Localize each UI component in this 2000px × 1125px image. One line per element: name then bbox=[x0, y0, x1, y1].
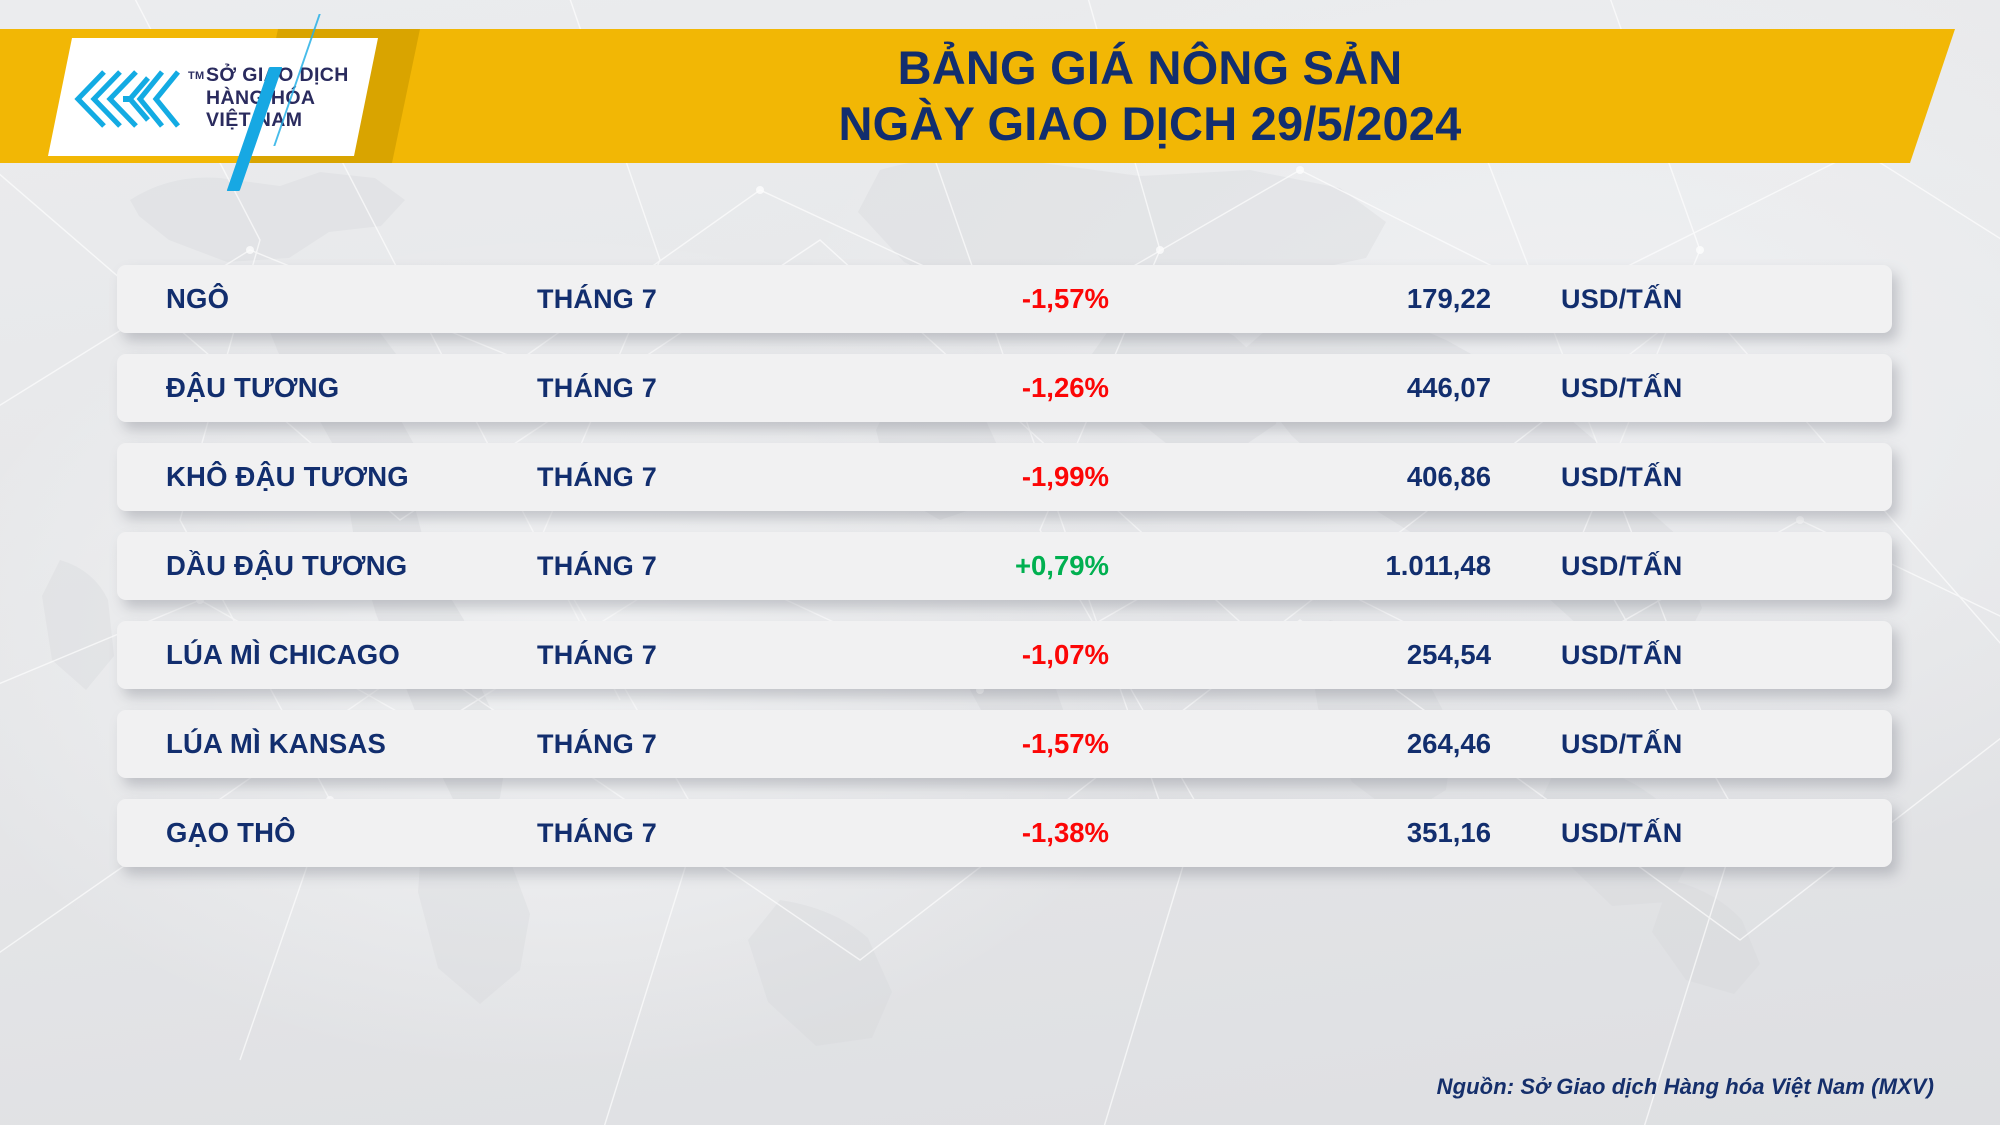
price-value: 264,46 bbox=[1197, 728, 1527, 760]
mxv-chevron-logo-icon bbox=[70, 68, 182, 130]
price-change: +0,79% bbox=[867, 550, 1197, 582]
commodity-name: NGÔ bbox=[117, 283, 537, 315]
table-row: LÚA MÌ KANSASTHÁNG 7-1,57%264,46USD/TẤN bbox=[117, 710, 1892, 778]
price-change: -1,57% bbox=[867, 283, 1197, 315]
price-change: -1,26% bbox=[867, 372, 1197, 404]
commodity-name: DẦU ĐẬU TƯƠNG bbox=[117, 550, 537, 582]
price-value: 446,07 bbox=[1197, 372, 1527, 404]
commodity-name: GẠO THÔ bbox=[117, 817, 537, 849]
price-unit: USD/TẤN bbox=[1527, 640, 1892, 671]
price-unit: USD/TẤN bbox=[1527, 462, 1892, 493]
page-header: TM SỞ GIAO DỊCH HÀNG HÓA VIỆT NAM BẢNG G… bbox=[0, 0, 2000, 175]
title-line-1: BẢNG GIÁ NÔNG SẢN bbox=[898, 41, 1403, 95]
price-value: 179,22 bbox=[1197, 283, 1527, 315]
price-change: -1,38% bbox=[867, 817, 1197, 849]
page-title: BẢNG GIÁ NÔNG SẢN NGÀY GIAO DỊCH 29/5/20… bbox=[480, 30, 1820, 162]
contract-month: THÁNG 7 bbox=[537, 462, 867, 493]
contract-month: THÁNG 7 bbox=[537, 373, 867, 404]
logo-plate: TM SỞ GIAO DỊCH HÀNG HÓA VIỆT NAM bbox=[48, 38, 378, 156]
price-change: -1,99% bbox=[867, 461, 1197, 493]
source-note: Nguồn: Sở Giao dịch Hàng hóa Việt Nam (M… bbox=[1437, 1074, 1934, 1100]
table-row: KHÔ ĐẬU TƯƠNGTHÁNG 7-1,99%406,86USD/TẤN bbox=[117, 443, 1892, 511]
price-unit: USD/TẤN bbox=[1527, 284, 1892, 315]
table-row: DẦU ĐẬU TƯƠNGTHÁNG 7+0,79%1.011,48USD/TẤ… bbox=[117, 532, 1892, 600]
price-unit: USD/TẤN bbox=[1527, 373, 1892, 404]
commodity-name: ĐẬU TƯƠNG bbox=[117, 372, 537, 404]
table-row: LÚA MÌ CHICAGOTHÁNG 7-1,07%254,54USD/TẤN bbox=[117, 621, 1892, 689]
contract-month: THÁNG 7 bbox=[537, 551, 867, 582]
price-value: 254,54 bbox=[1197, 639, 1527, 671]
price-value: 406,86 bbox=[1197, 461, 1527, 493]
price-unit: USD/TẤN bbox=[1527, 818, 1892, 849]
table-row: ĐẬU TƯƠNGTHÁNG 7-1,26%446,07USD/TẤN bbox=[117, 354, 1892, 422]
price-value: 351,16 bbox=[1197, 817, 1527, 849]
table-row: NGÔTHÁNG 7-1,57%179,22USD/TẤN bbox=[117, 265, 1892, 333]
trademark-symbol: TM bbox=[188, 70, 204, 82]
commodity-name: KHÔ ĐẬU TƯƠNG bbox=[117, 461, 537, 493]
commodity-name: LÚA MÌ CHICAGO bbox=[117, 639, 537, 671]
logo-name-line-3: VIỆT NAM bbox=[206, 109, 349, 132]
contract-month: THÁNG 7 bbox=[537, 729, 867, 760]
price-value: 1.011,48 bbox=[1197, 550, 1527, 582]
price-unit: USD/TẤN bbox=[1527, 551, 1892, 582]
price-change: -1,57% bbox=[867, 728, 1197, 760]
contract-month: THÁNG 7 bbox=[537, 640, 867, 671]
contract-month: THÁNG 7 bbox=[537, 284, 867, 315]
price-unit: USD/TẤN bbox=[1527, 729, 1892, 760]
commodity-price-table: NGÔTHÁNG 7-1,57%179,22USD/TẤNĐẬU TƯƠNGTH… bbox=[117, 265, 1892, 867]
contract-month: THÁNG 7 bbox=[537, 818, 867, 849]
table-row: GẠO THÔTHÁNG 7-1,38%351,16USD/TẤN bbox=[117, 799, 1892, 867]
price-change: -1,07% bbox=[867, 639, 1197, 671]
logo-name-line-2: HÀNG HÓA bbox=[206, 87, 349, 110]
title-line-2: NGÀY GIAO DỊCH 29/5/2024 bbox=[838, 97, 1461, 151]
commodity-name: LÚA MÌ KANSAS bbox=[117, 728, 537, 760]
